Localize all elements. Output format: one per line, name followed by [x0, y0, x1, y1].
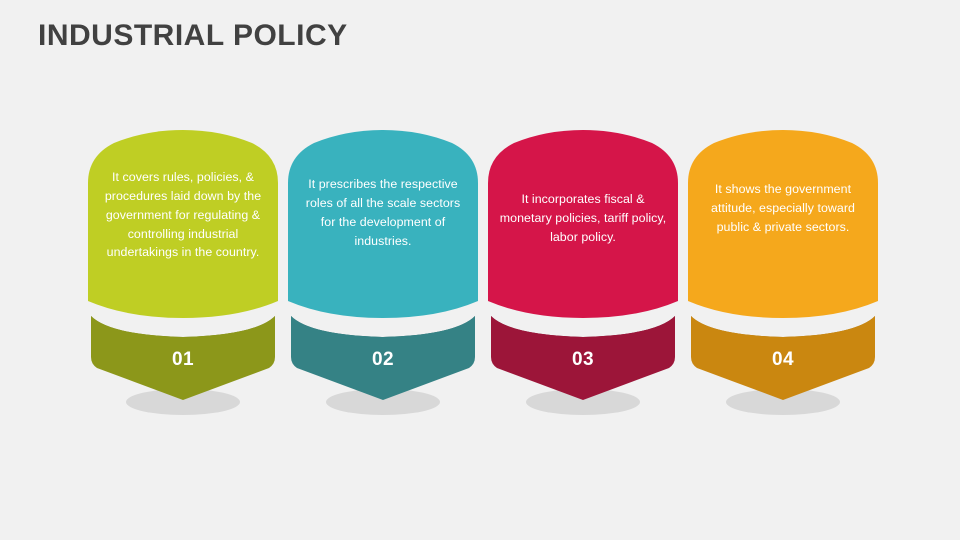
- card-description-04: It shows the government attitude, especi…: [698, 180, 868, 237]
- policy-card-02[interactable]: It prescribes the respective roles of al…: [288, 130, 478, 420]
- page-title: INDUSTRIAL POLICY: [38, 18, 348, 54]
- card-shape-04: [688, 130, 878, 420]
- card-number-03: 03: [488, 349, 678, 371]
- card-shape-03: [488, 130, 678, 420]
- card-description-03: It incorporates fiscal & monetary polici…: [498, 190, 668, 247]
- card-number-02: 02: [288, 349, 478, 371]
- card-number-04: 04: [688, 349, 878, 371]
- card-description-01: It covers rules, policies, & procedures …: [98, 168, 268, 262]
- card-description-02: It prescribes the respective roles of al…: [298, 175, 468, 250]
- policy-card-03[interactable]: It incorporates fiscal & monetary polici…: [488, 130, 678, 420]
- card-number-01: 01: [88, 349, 278, 371]
- policy-card-04[interactable]: It shows the government attitude, especi…: [688, 130, 878, 420]
- card-shape-02: [288, 130, 478, 420]
- policy-card-01[interactable]: It covers rules, policies, & procedures …: [88, 130, 278, 420]
- slide-canvas: INDUSTRIAL POLICY It covers rules, polic…: [0, 0, 960, 540]
